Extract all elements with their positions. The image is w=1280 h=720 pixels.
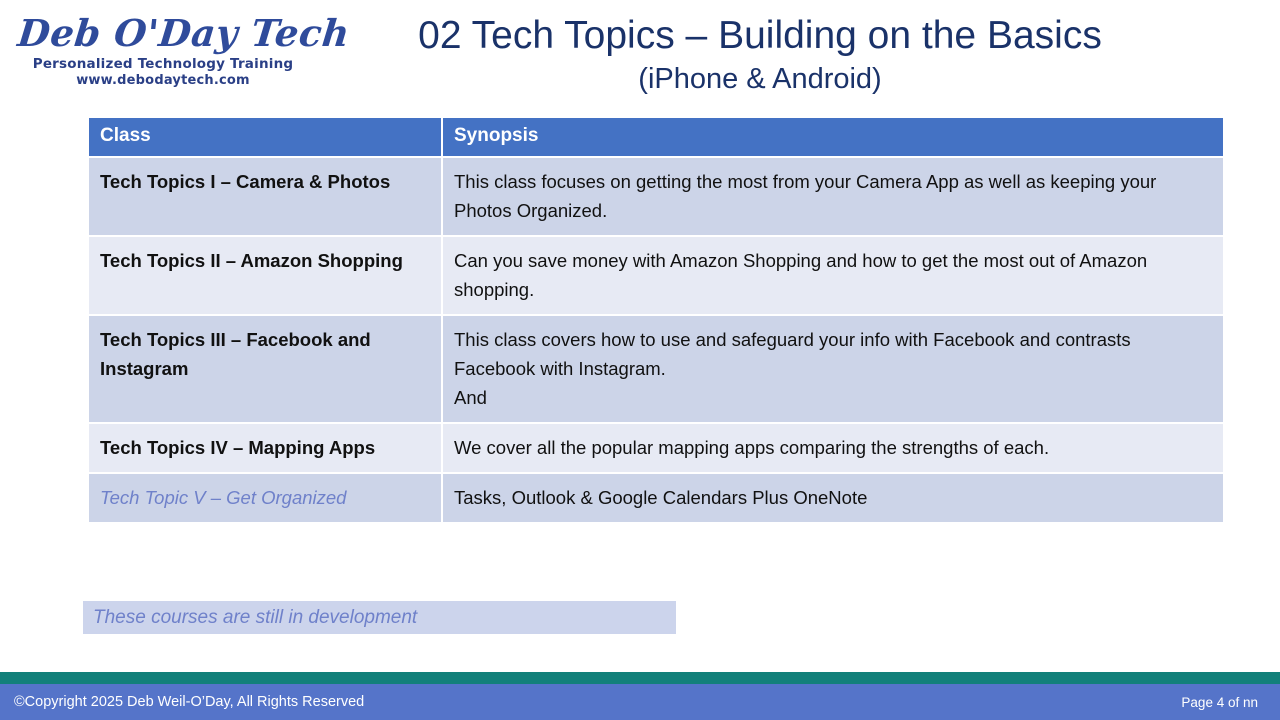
cell-synopsis: This class focuses on getting the most f… [441,158,1223,237]
table-row: Tech Topics II – Amazon Shopping Can you… [89,237,1223,316]
cell-synopsis: This class covers how to use and safegua… [441,316,1223,424]
table-row: Tech Topics III – Facebook and Instagram… [89,316,1223,424]
slide-title-block: 02 Tech Topics – Building on the Basics … [330,12,1190,98]
column-header-class: Class [89,118,441,158]
page-subtitle: (iPhone & Android) [330,60,1190,98]
logo-brand-text: Deb O'Day Tech [16,10,311,56]
table-body: Tech Topics I – Camera & Photos This cla… [89,158,1223,524]
table-header-row: Class Synopsis [89,118,1223,158]
cell-class-name: Tech Topic V – Get Organized [89,474,441,524]
table-row: Tech Topics IV – Mapping Apps We cover a… [89,424,1223,474]
cell-synopsis: Tasks, Outlook & Google Calendars Plus O… [441,474,1223,524]
development-note-box: These courses are still in development [83,601,676,634]
cell-class-name: Tech Topics I – Camera & Photos [89,158,441,237]
cell-class-name: Tech Topics III – Facebook and Instagram [89,316,441,424]
column-header-synopsis: Synopsis [441,118,1223,158]
course-table: Class Synopsis Tech Topics I – Camera & … [89,118,1223,524]
cell-synopsis: Can you save money with Amazon Shopping … [441,237,1223,316]
table-row: Tech Topics I – Camera & Photos This cla… [89,158,1223,237]
cell-class-name: Tech Topics IV – Mapping Apps [89,424,441,474]
logo-website-url: www.debodaytech.com [18,73,308,89]
slide-canvas: Deb O'Day Tech Personalized Technology T… [0,0,1280,720]
development-note-text: These courses are still in development [93,607,417,629]
company-logo: Deb O'Day Tech Personalized Technology T… [18,10,308,96]
page-title: 02 Tech Topics – Building on the Basics [330,12,1190,60]
footer-accent-strip [0,672,1280,684]
footer-page-number: Page 4 of nn [1181,695,1258,710]
footer-copyright: ©Copyright 2025 Deb Weil-O’Day, All Righ… [14,694,364,710]
table-row: Tech Topic V – Get Organized Tasks, Outl… [89,474,1223,524]
cell-class-name: Tech Topics II – Amazon Shopping [89,237,441,316]
logo-tagline: Personalized Technology Training [18,56,308,73]
cell-synopsis: We cover all the popular mapping apps co… [441,424,1223,474]
